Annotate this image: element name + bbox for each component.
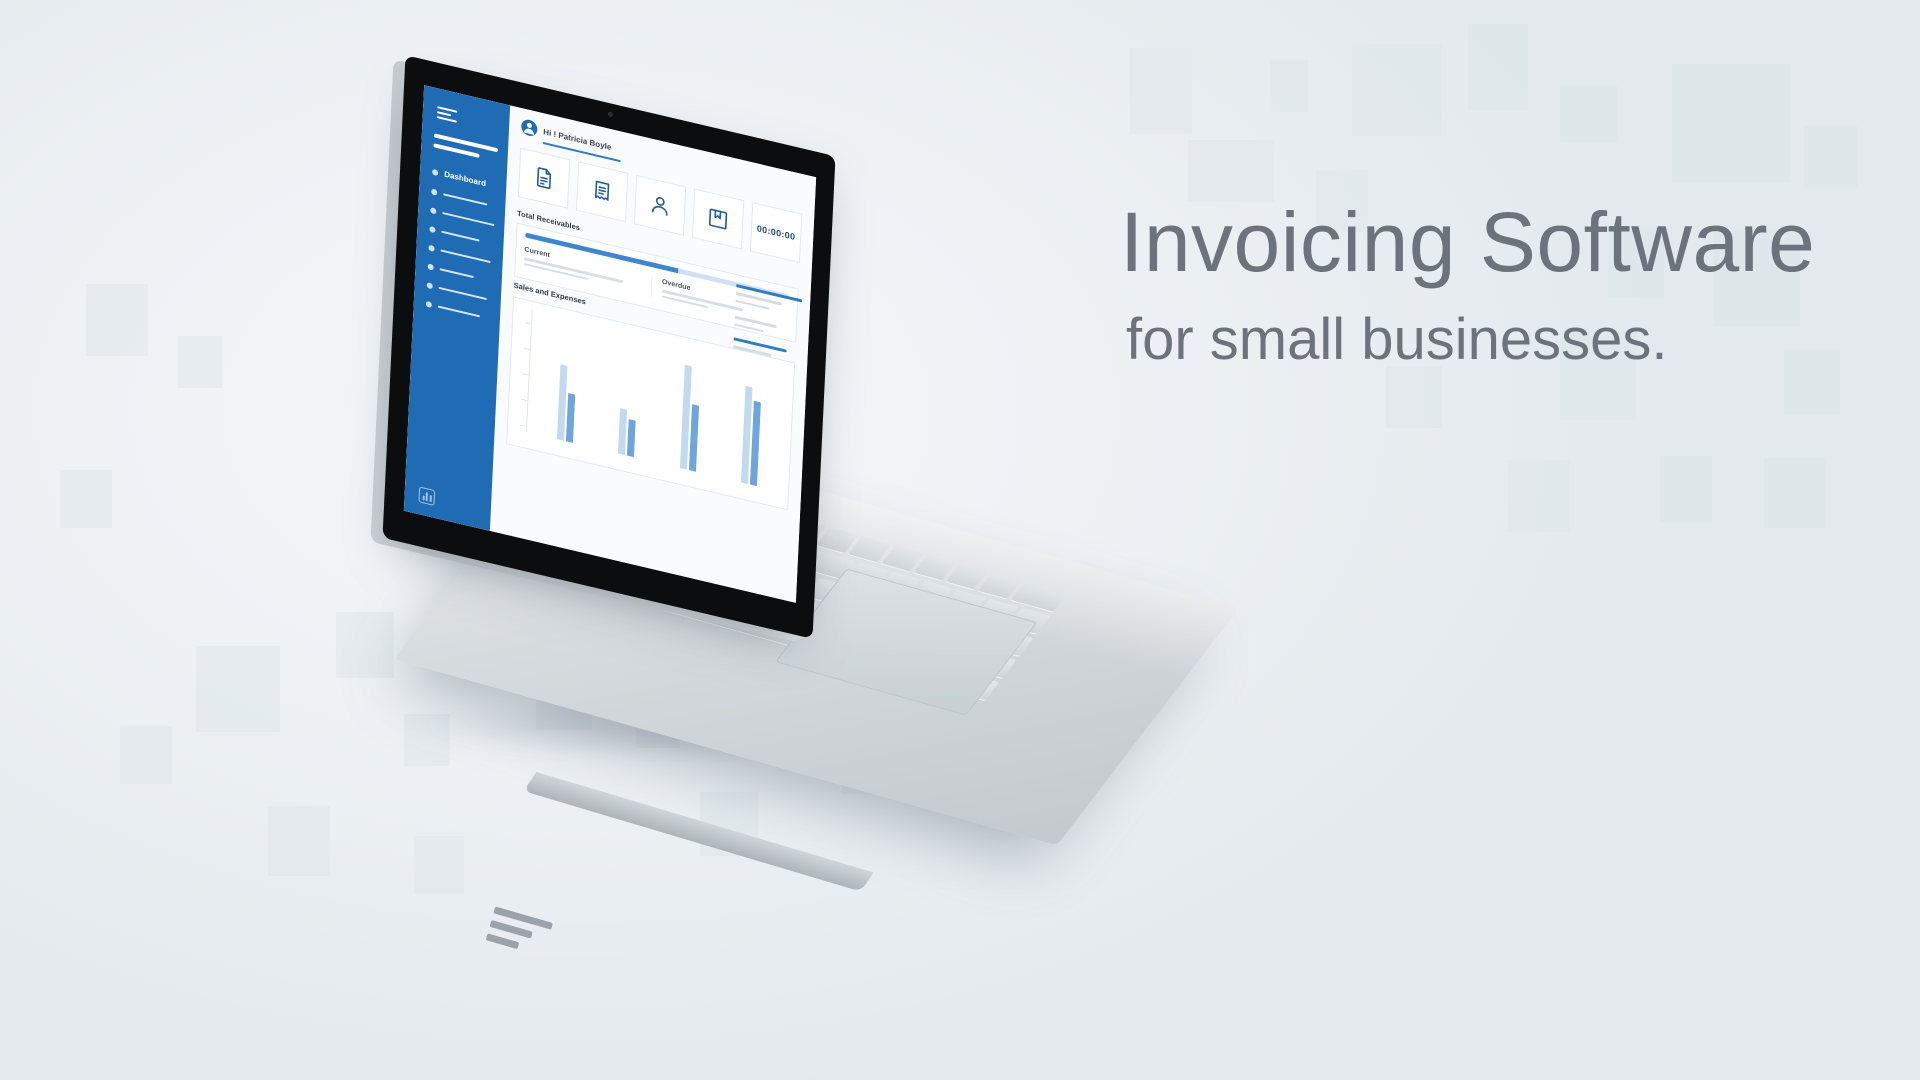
- laptop-screen: Dashboard: [404, 85, 816, 603]
- usb-port: [486, 933, 520, 949]
- bullet-icon: [428, 263, 434, 270]
- bullet-icon: [428, 245, 434, 252]
- hero-copy: Invoicing Software for small businesses.: [1120, 200, 1840, 373]
- chart-bar-group: [557, 319, 579, 443]
- sidebar-item-5[interactable]: [428, 245, 492, 266]
- bullet-icon: [432, 168, 438, 175]
- sidebar-item-dashboard[interactable]: Dashboard: [432, 167, 496, 191]
- chart-bar-group: [618, 333, 640, 457]
- background-square: [414, 836, 464, 894]
- chart-bar: [750, 400, 761, 486]
- bullet-icon: [426, 301, 432, 308]
- user-avatar-icon[interactable]: [521, 118, 538, 138]
- laptop-device: Dashboard: [330, 60, 1090, 720]
- laptop-lid: Dashboard: [330, 60, 850, 620]
- reports-icon[interactable]: [418, 486, 435, 506]
- quick-tile-item[interactable]: [692, 189, 744, 250]
- page-subtitle: for small businesses.: [1126, 306, 1840, 373]
- background-square: [196, 646, 280, 732]
- rail-placeholder: [734, 323, 763, 332]
- chart-bar-group: [680, 348, 702, 472]
- background-square: [1468, 24, 1528, 110]
- background-square: [86, 284, 148, 356]
- chart-y-tick: [520, 424, 526, 426]
- background-square: [1508, 460, 1570, 532]
- chart-bar: [627, 420, 636, 458]
- sidebar-item-6[interactable]: [428, 263, 492, 284]
- sidebar-item-placeholder: [440, 249, 490, 263]
- chart-y-tick: [525, 322, 531, 324]
- bullet-icon: [431, 188, 437, 195]
- background-square: [178, 336, 222, 388]
- receipt-icon: [590, 177, 615, 206]
- sidebar-item-placeholder: [442, 212, 494, 227]
- chart-bar-group: [741, 362, 763, 486]
- sidebar-item-placeholder: [439, 287, 487, 301]
- bullet-icon: [429, 226, 435, 233]
- greeting-text: Hi ! Patricia Boyle: [543, 127, 611, 152]
- chart-y-tick: [521, 399, 527, 401]
- bullet-icon: [427, 282, 433, 289]
- rail-accent-line: [734, 337, 787, 352]
- sidebar-item-placeholder: [438, 305, 480, 317]
- webcam-icon: [608, 111, 613, 117]
- customer-person-icon: [648, 191, 673, 220]
- hamburger-icon[interactable]: [437, 106, 458, 123]
- background-square: [1560, 86, 1618, 142]
- background-square: [268, 806, 330, 876]
- background-square: [1804, 126, 1858, 188]
- background-square: [1672, 64, 1790, 182]
- background-square: [120, 726, 172, 784]
- background-square: [1660, 456, 1712, 522]
- sidebar-item-label: Dashboard: [444, 170, 486, 189]
- quick-tile-invoice[interactable]: [518, 148, 570, 209]
- chart-bar: [689, 404, 699, 472]
- invoicing-app: Dashboard: [404, 85, 816, 603]
- bullet-icon: [430, 207, 436, 214]
- sidebar-item-placeholder: [440, 268, 474, 278]
- timer-value: 00:00:00: [757, 223, 796, 242]
- background-square: [1130, 48, 1192, 134]
- sidebar-item-8[interactable]: [426, 301, 490, 322]
- chart-y-tick: [523, 373, 529, 375]
- background-square: [1188, 140, 1274, 202]
- chart-y-tick: [524, 348, 530, 350]
- sidebar-item-4[interactable]: [429, 226, 493, 247]
- page-title: Invoicing Software: [1120, 200, 1840, 284]
- background-square: [1270, 60, 1308, 112]
- background-square: [1386, 366, 1442, 428]
- quick-tile-timer[interactable]: 00:00:00: [750, 202, 802, 263]
- package-box-icon: [706, 204, 731, 233]
- background-square: [1352, 44, 1442, 136]
- sidebar-item-7[interactable]: [427, 282, 491, 303]
- sidebar-item-placeholder: [441, 230, 479, 241]
- chart-bar: [618, 408, 627, 455]
- chart-bar: [566, 393, 575, 443]
- invoice-document-icon: [532, 163, 557, 192]
- quick-tile-customer[interactable]: [634, 175, 686, 236]
- background-square: [1764, 458, 1826, 528]
- quick-tile-receipt[interactable]: [576, 161, 628, 222]
- background-square: [60, 470, 112, 528]
- chart-y-axis: [526, 310, 533, 432]
- sidebar-item-3[interactable]: [430, 207, 494, 228]
- sidebar-item-placeholder: [443, 193, 487, 206]
- sidebar-item-2[interactable]: [431, 188, 495, 209]
